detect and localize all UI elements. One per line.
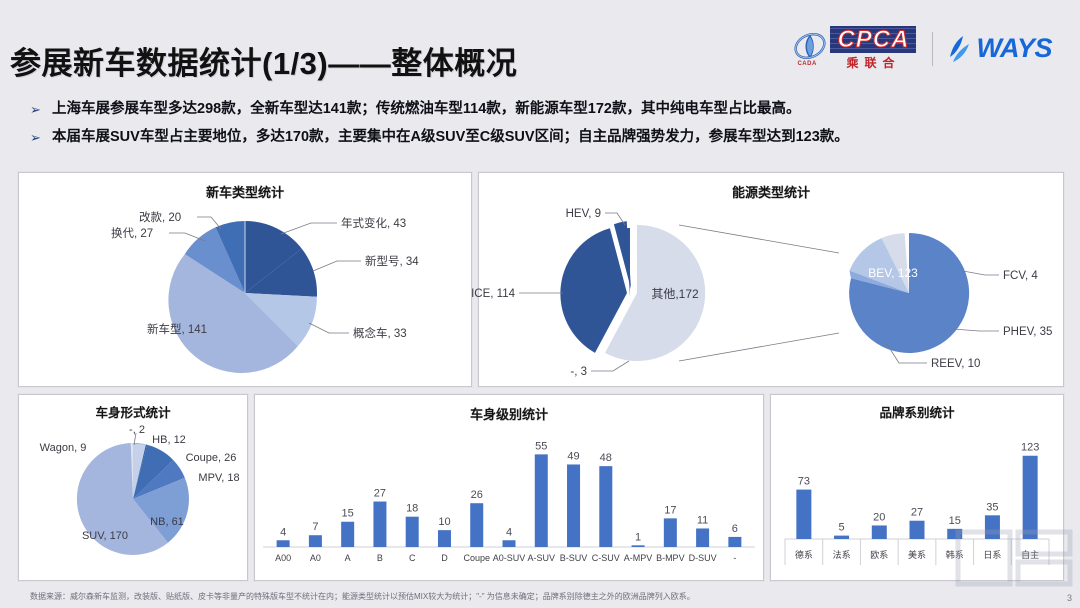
- bar-C-SUV[interactable]: [599, 466, 612, 547]
- bar-法系[interactable]: [834, 536, 849, 539]
- cada-swirl-icon: CADA: [793, 31, 827, 67]
- bar-value-韩系: 15: [949, 515, 961, 527]
- pie-label-MPV: MPV, 18: [198, 472, 239, 484]
- x-tick-C-SUV: C-SUV: [592, 553, 620, 563]
- chart-panel-energy-type: 能源类型统计: [478, 172, 1064, 387]
- x-tick-A: A: [345, 553, 351, 563]
- pie-label-Wagon: Wagon, 9: [40, 442, 87, 454]
- bar-D[interactable]: [438, 530, 451, 547]
- bar-日系[interactable]: [985, 515, 1000, 539]
- x-tick-韩系: 韩系: [946, 549, 964, 560]
- pie-label-ICE: ICE, 114: [471, 288, 515, 300]
- x-tick-德系: 德系: [795, 549, 813, 560]
- bar-value-自主: 123: [1021, 442, 1039, 454]
- bar-value-欧系: 20: [873, 511, 885, 523]
- pie-label-NB: NB, 61: [150, 516, 184, 528]
- bar-value-法系: 5: [839, 522, 845, 534]
- bar-value--: 6: [732, 523, 738, 535]
- x-tick-labels: 德系法系欧系美系韩系日系自主: [795, 549, 1039, 560]
- pie-label-其他: 其他,172: [651, 287, 699, 301]
- cada-wordmark: CADA: [797, 61, 816, 67]
- bar-value-A: 15: [342, 508, 354, 520]
- pie-plot-body-form: -, 2 HB, 12 Coupe, 26 MPV, 18 NB, 61 SUV…: [19, 421, 247, 579]
- bar-value-A00: 4: [280, 526, 286, 538]
- bar-自主[interactable]: [1023, 456, 1038, 539]
- chart-title: 车身形式统计: [19, 402, 247, 421]
- chart-panel-brand-series: 品牌系别统计 73520271535123 德系法系欧系美系韩系日系自主: [770, 394, 1064, 581]
- bar-韩系[interactable]: [947, 529, 962, 539]
- chart-title: 车身级别统计: [255, 404, 763, 423]
- bar-value-B: 27: [374, 488, 386, 500]
- chart-title: 品牌系别统计: [771, 402, 1063, 421]
- pie-label-新车型: 新车型, 141: [147, 322, 207, 336]
- pie-label-dash: -, 3: [570, 366, 587, 378]
- pie-label-换代: 换代, 27: [111, 226, 153, 240]
- bar-plot-brand-series: 73520271535123 德系法系欧系美系韩系日系自主: [771, 421, 1063, 579]
- pie-label-HB: HB, 12: [152, 434, 186, 446]
- bar-value-美系: 27: [911, 507, 923, 519]
- x-tick-B: B: [377, 553, 383, 563]
- bar-A-SUV[interactable]: [535, 454, 548, 547]
- bullet-text: 本届车展SUV车型占主要地位，多达170款，主要集中在A级SUV至C级SUV区间…: [52, 128, 849, 147]
- bar-A0-SUV[interactable]: [503, 540, 516, 547]
- bar-value-日系: 35: [986, 501, 998, 513]
- bar-A0[interactable]: [309, 535, 322, 547]
- x-tick-A00: A00: [275, 553, 291, 563]
- chart-title: 能源类型统计: [479, 182, 1063, 201]
- ways-wordmark: WAYS: [976, 35, 1052, 62]
- pie-label-SUV: SUV, 170: [82, 530, 128, 542]
- bar-value-C: 18: [406, 503, 418, 515]
- x-tick-C: C: [409, 553, 416, 563]
- bar-A-MPV[interactable]: [632, 545, 645, 547]
- x-tick-Coupe: Coupe: [463, 553, 490, 563]
- x-tick-A0-SUV: A0-SUV: [493, 553, 526, 563]
- cada-logo: CADA CPCA 乘联合: [793, 26, 916, 71]
- pie-label-BEV: BEV, 123: [868, 266, 918, 280]
- slide-header: 参展新车数据统计(1/3)——整体概况 CADA CPCA 乘联合: [0, 0, 1080, 96]
- cpca-logo-block: CPCA 乘联合: [830, 26, 916, 71]
- bar-value-D: 10: [438, 516, 450, 528]
- cpca-wordmark: CPCA: [837, 28, 909, 52]
- pie-label-PHEV: PHEV, 35: [1003, 326, 1052, 338]
- breakout-pie-slices: [849, 233, 969, 353]
- bar-D-SUV[interactable]: [696, 528, 709, 547]
- bar-value-德系: 73: [798, 476, 810, 488]
- x-tick-A-SUV: A-SUV: [528, 553, 556, 563]
- pie-label-Coupe: Coupe, 26: [186, 452, 237, 464]
- bullet-item: ➢ 本届车展SUV车型占主要地位，多达170款，主要集中在A级SUV至C级SUV…: [30, 128, 1060, 147]
- bar-value-Coupe: 26: [471, 489, 483, 501]
- bar-value-labels: 73520271535123: [798, 442, 1040, 534]
- bar-C[interactable]: [406, 517, 419, 547]
- bar-B-MPV[interactable]: [664, 518, 677, 547]
- pie-slices: [168, 221, 317, 373]
- source-note: 数据来源：威尔森新车监测，改装版、贴纸版、皮卡等非量产的特殊版车型不统计在内；能…: [30, 591, 1030, 602]
- chart-panel-new-car-type: 新车类型统计: [18, 172, 472, 387]
- x-tick-美系: 美系: [908, 549, 926, 560]
- x-tick-D-SUV: D-SUV: [689, 553, 717, 563]
- bullet-arrow-icon: ➢: [30, 100, 52, 119]
- page-number: 3: [1067, 593, 1072, 603]
- pie-label-新型号: 新型号, 34: [365, 254, 419, 268]
- logo-group: CADA CPCA 乘联合 WAYS: [793, 26, 1052, 71]
- pie-label-改款: 改款, 20: [139, 210, 181, 224]
- bar-美系[interactable]: [910, 521, 925, 539]
- pie-label-概念车: 概念车, 33: [353, 326, 407, 340]
- bar-plot-body-class: 4715271810264554948117116 A00A0ABCDCoupe…: [255, 423, 763, 579]
- bullet-list: ➢ 上海车展参展车型多达298款，全新车型达141款；传统燃油车型114款，新能…: [30, 100, 1060, 156]
- x-tick-欧系: 欧系: [870, 549, 888, 560]
- bar-Coupe[interactable]: [470, 503, 483, 547]
- x-tick-法系: 法系: [833, 549, 851, 560]
- pie-label-dash: -, 2: [129, 424, 145, 436]
- bar-欧系[interactable]: [872, 525, 887, 539]
- pie-label-年式变化: 年式变化, 43: [341, 216, 406, 230]
- bar-value-B-MPV: 17: [664, 504, 676, 516]
- bar-value-A0-SUV: 4: [506, 526, 512, 538]
- bullet-arrow-icon: ➢: [30, 128, 52, 147]
- x-tick-A-MPV: A-MPV: [624, 553, 653, 563]
- x-tick-labels: A00A0ABCDCoupeA0-SUVA-SUVB-SUVC-SUVA-MPV…: [275, 553, 736, 563]
- x-tick-A0: A0: [310, 553, 321, 563]
- bar-value-A0: 7: [312, 521, 318, 533]
- pie-label-HEV: HEV, 9: [566, 208, 601, 220]
- bar-A[interactable]: [341, 522, 354, 547]
- bar-A00[interactable]: [277, 540, 290, 547]
- pie-plot-energy-type: ICE, 114 HEV, 9 -, 3 其他,172 BEV, 123 FCV…: [479, 201, 1063, 387]
- bar-series-brand: [796, 456, 1037, 539]
- x-tick-B-SUV: B-SUV: [560, 553, 588, 563]
- bullet-text: 上海车展参展车型多达298款，全新车型达141款；传统燃油车型114款，新能源车…: [52, 100, 800, 119]
- cpca-chinese-name: 乘联合: [830, 54, 916, 71]
- bar-value-A-MPV: 1: [635, 531, 641, 543]
- x-tick-日系: 日系: [983, 550, 1001, 560]
- bar-B[interactable]: [373, 502, 386, 547]
- pie-label-REEV: REEV, 10: [931, 358, 980, 370]
- page-title: 参展新车数据统计(1/3)——整体概况: [10, 38, 517, 83]
- chart-title: 新车类型统计: [19, 182, 471, 201]
- bar-value-C-SUV: 48: [600, 452, 612, 464]
- logo-divider: [932, 32, 933, 66]
- bar-value-A-SUV: 55: [535, 440, 547, 452]
- x-tick-B-MPV: B-MPV: [656, 553, 685, 563]
- ways-mark-icon: [949, 35, 971, 63]
- chart-panel-body-form: 车身形式统计 -, 2: [18, 394, 248, 581]
- x-tick-D: D: [441, 553, 448, 563]
- chart-panel-body-class: 车身级别统计 4715271810264554948117116 A00A0AB…: [254, 394, 764, 581]
- ways-logo: WAYS: [949, 35, 1052, 63]
- bar-德系[interactable]: [796, 490, 811, 539]
- pie-plot-new-car-type: 年式变化, 43 新型号, 34 概念车, 33 新车型, 141 换代, 27…: [19, 201, 471, 387]
- bar--[interactable]: [728, 537, 741, 547]
- bullet-item: ➢ 上海车展参展车型多达298款，全新车型达141款；传统燃油车型114款，新能…: [30, 100, 1060, 119]
- bar-B-SUV[interactable]: [567, 464, 580, 547]
- pie-label-FCV: FCV, 4: [1003, 270, 1038, 282]
- x-tick-自主: 自主: [1021, 549, 1039, 560]
- bar-value-D-SUV: 11: [697, 514, 708, 526]
- cpca-box: CPCA: [830, 26, 916, 53]
- x-tick--: -: [733, 553, 736, 563]
- bar-value-B-SUV: 49: [567, 450, 579, 462]
